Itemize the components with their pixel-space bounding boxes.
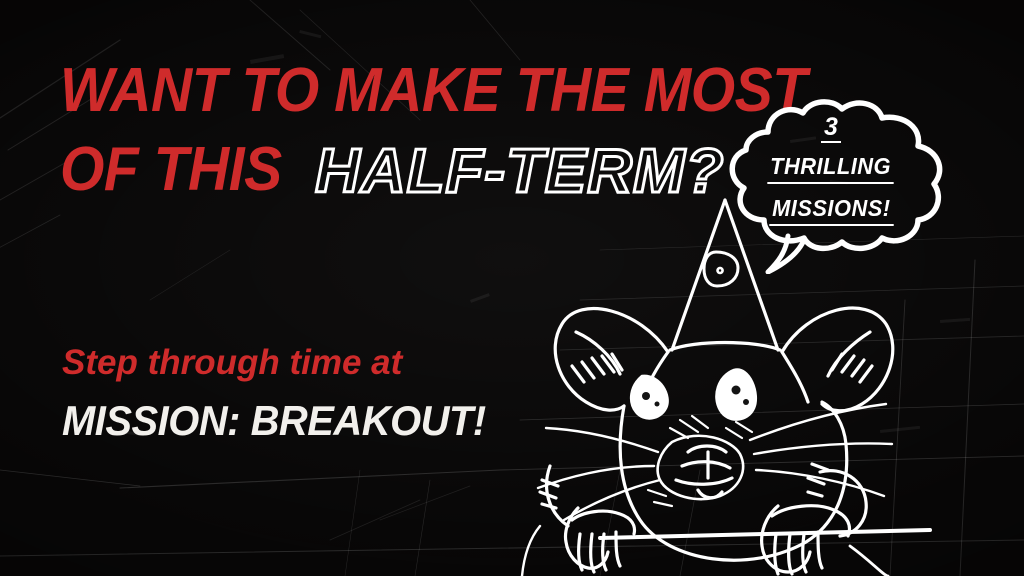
headline-line-1: WANT TO MAKE THE MOST xyxy=(60,62,760,121)
rat-ear-right xyxy=(782,308,893,411)
rat-illustration xyxy=(520,190,990,576)
rat-paw-right xyxy=(762,464,867,574)
subheading-line-1: Step through time at xyxy=(62,344,582,383)
subheading-line-2: MISSION: BREAKOUT! xyxy=(62,397,556,445)
rat-eyes xyxy=(631,370,756,420)
poster-canvas: WANT TO MAKE THE MOST OF THISHALF-TERM? … xyxy=(0,0,1024,576)
headline-line-2-red-text: OF THIS xyxy=(60,141,282,200)
subheading-block: Step through time at MISSION: BREAKOUT! xyxy=(62,344,582,445)
rat-muzzle xyxy=(658,436,743,499)
headline-line-1-text: WANT TO MAKE THE MOST xyxy=(60,62,807,121)
party-hat xyxy=(670,200,780,350)
headline-block: WANT TO MAKE THE MOST OF THISHALF-TERM? xyxy=(60,62,760,200)
